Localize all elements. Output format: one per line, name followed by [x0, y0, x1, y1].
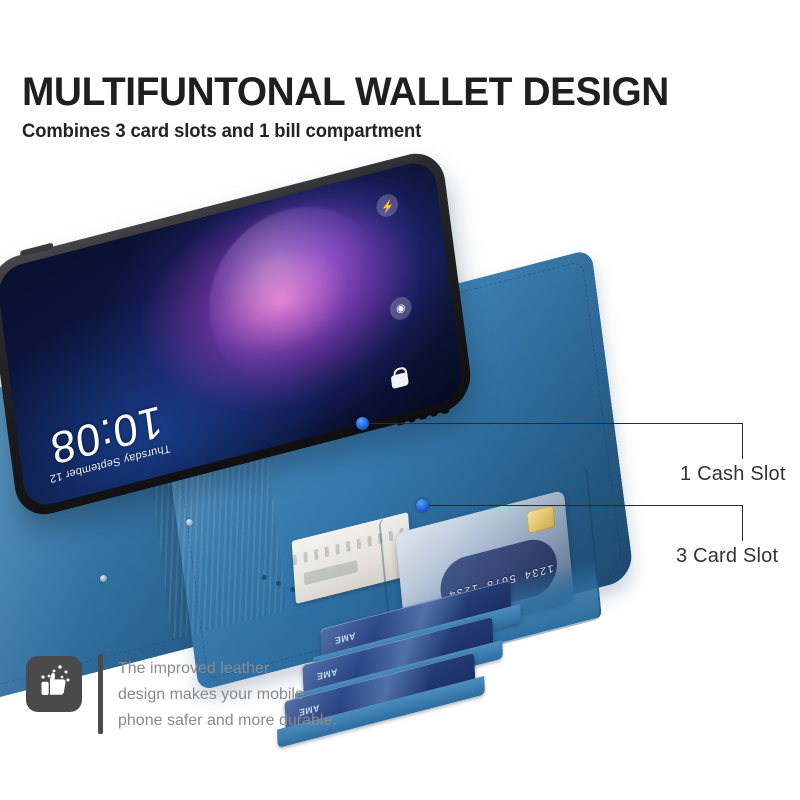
wallet-stitch-hole: [262, 575, 267, 580]
callout-line-cash-slot-vertical: [742, 423, 743, 459]
camera-glyph: ◉: [396, 301, 407, 314]
callout-line-card-slot-vertical: [742, 505, 743, 541]
callout-line-card-slot-horizontal: [426, 505, 742, 506]
thumbs-up-icon: [26, 656, 82, 712]
page-subtitle: Combines 3 card slots and 1 bill compart…: [22, 120, 740, 144]
feature-line: design makes your mobile: [118, 682, 337, 708]
callout-label-card-slot: 3 Card Slot: [676, 545, 778, 568]
wallpaper-bubble: [199, 188, 397, 406]
flashlight-glyph: ⚡: [380, 198, 395, 212]
feature-callout-block: The improved leather design makes your m…: [26, 648, 586, 748]
callout-line-cash-slot-horizontal: [366, 423, 742, 424]
feature-description: The improved leather design makes your m…: [118, 656, 337, 734]
lock-icon: [390, 372, 408, 389]
feature-line: phone safer and more durable.: [118, 708, 337, 734]
flashlight-icon: ⚡: [376, 192, 400, 219]
header-block: MULTIFUNTONAL WALLET DESIGN Combines 3 c…: [22, 70, 762, 144]
card-slot-mark: AME: [334, 630, 355, 646]
feature-divider: [98, 654, 103, 734]
callout-dot-card-slot: [416, 499, 429, 512]
page-title: MULTIFUNTONAL WALLET DESIGN: [22, 70, 740, 114]
camera-icon: ◉: [389, 294, 413, 321]
product-photo: 1234 5678 1234 00/00 AME AME AME ⚡ ◉: [0, 150, 800, 650]
feature-line: The improved leather: [118, 656, 337, 682]
callout-label-cash-slot: 1 Cash Slot: [680, 463, 786, 486]
wallet-rivet: [186, 519, 193, 526]
callout-dot-cash-slot: [356, 417, 369, 430]
lockscreen-clock-group: Thursday September 12 10:08: [43, 395, 171, 484]
wallet-rivet: [100, 575, 107, 582]
wallet-stitch-hole: [276, 581, 281, 586]
